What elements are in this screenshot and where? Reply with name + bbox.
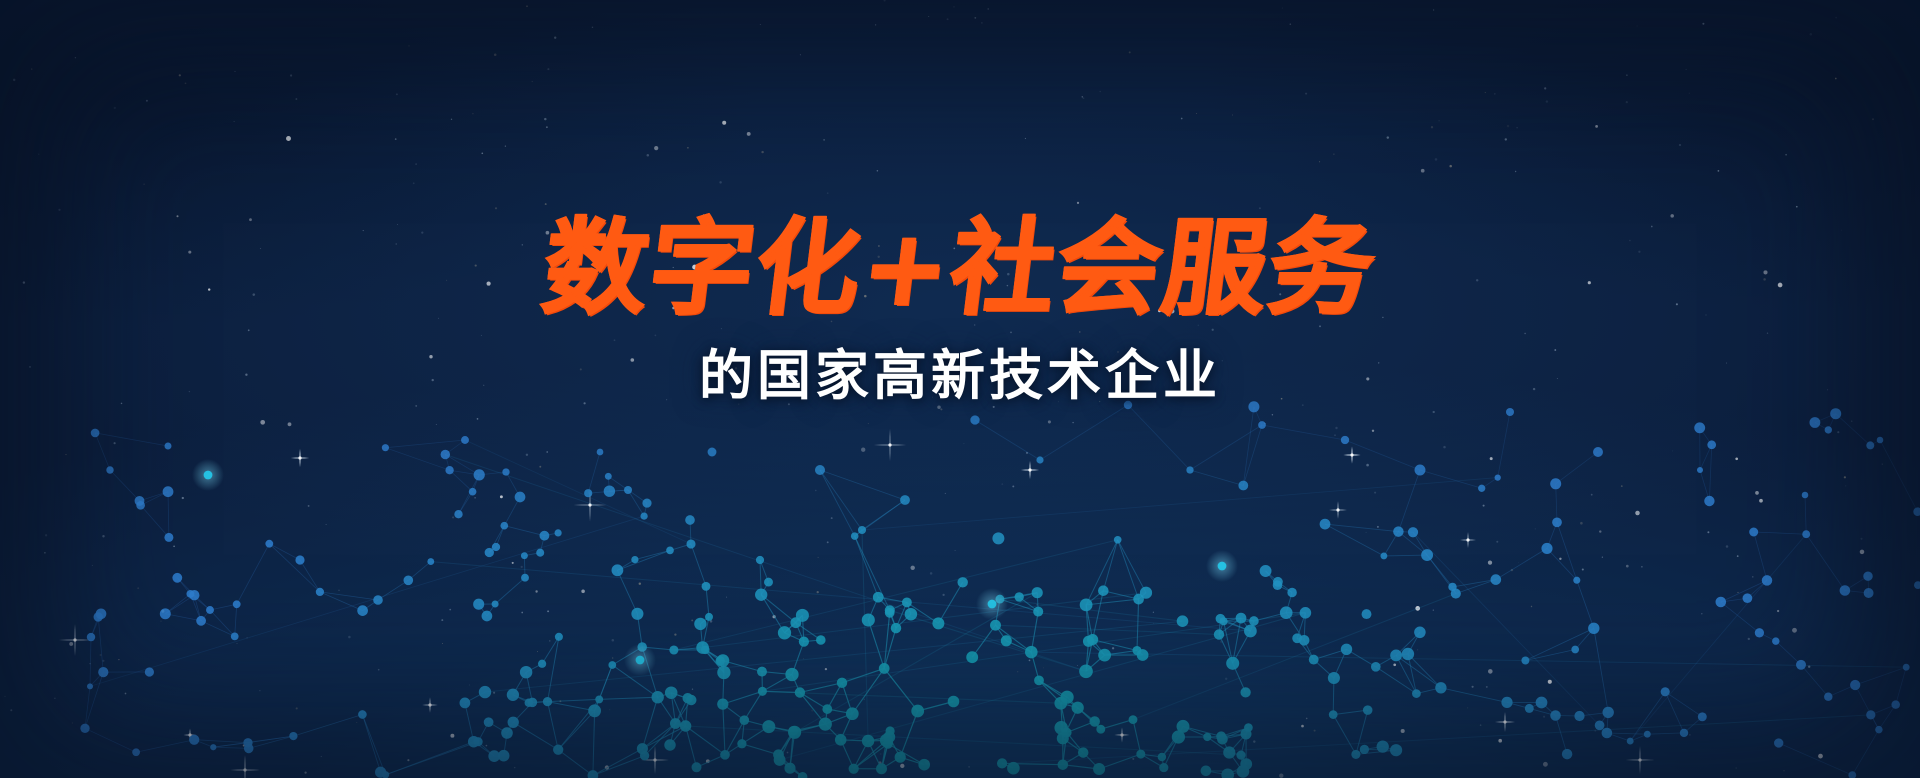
hero-banner: 数字化+社会服务 的国家高新技术企业 — [0, 0, 1920, 778]
banner-content: 数字化+社会服务 的国家高新技术企业 — [0, 0, 1920, 778]
banner-subtitle: 的国家高新技术企业 — [699, 346, 1221, 405]
banner-headline: 数字化+社会服务 — [538, 214, 1382, 322]
